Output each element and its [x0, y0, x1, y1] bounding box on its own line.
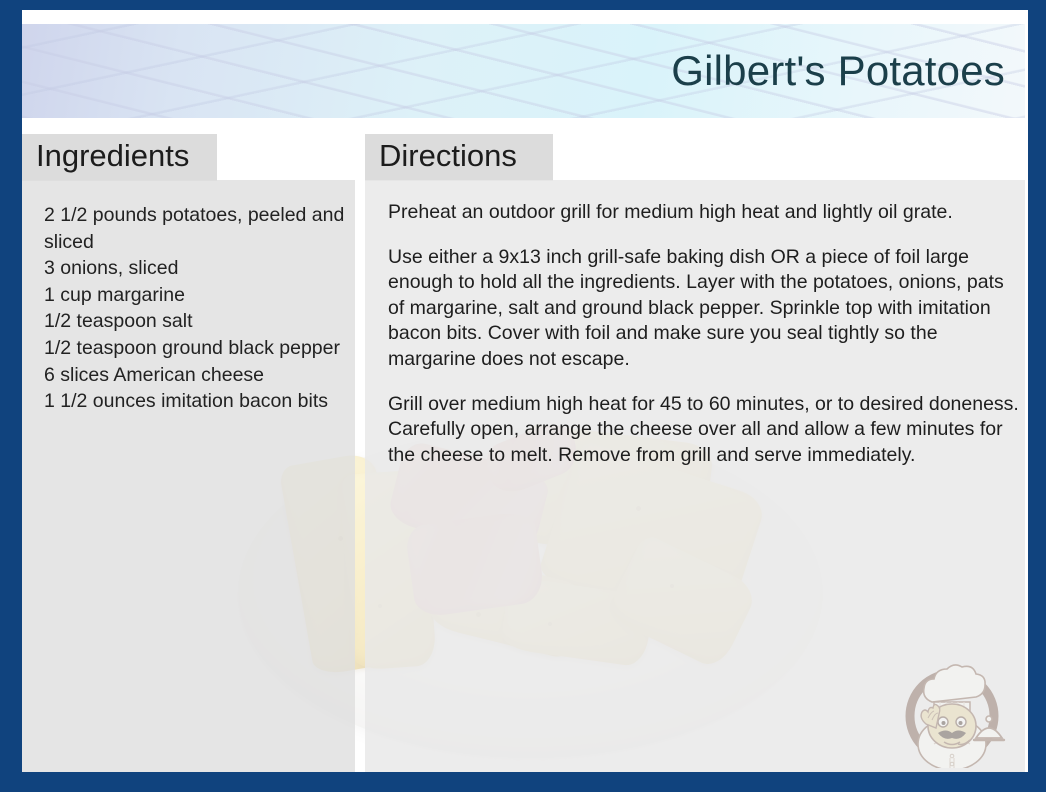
list-item: 1 cup margarine — [44, 282, 372, 309]
directions-heading-label: Directions — [379, 140, 539, 173]
ingredients-header: Ingredients — [22, 134, 217, 181]
direction-paragraph: Use either a 9x13 inch grill-safe baking… — [388, 245, 1024, 373]
direction-paragraph: Preheat an outdoor grill for medium high… — [388, 200, 1024, 226]
title-banner: Gilbert's Potatoes — [22, 24, 1025, 118]
recipe-slide: Gilbert's Potatoes Ingredients 2 1/2 pou… — [0, 0, 1046, 792]
chef-logo — [888, 640, 1016, 768]
list-item: 1/2 teaspoon salt — [44, 308, 372, 335]
ingredients-heading-label: Ingredients — [36, 140, 203, 173]
list-item: 1 1/2 ounces imitation bacon bits — [44, 388, 372, 415]
page-title: Gilbert's Potatoes — [671, 47, 1005, 95]
slide-page: Gilbert's Potatoes Ingredients 2 1/2 pou… — [22, 10, 1028, 772]
list-item: 1/2 teaspoon ground black pepper — [44, 335, 372, 362]
list-item: 2 1/2 pounds potatoes, peeled and sliced — [44, 202, 372, 255]
directions-header: Directions — [365, 134, 553, 181]
ingredients-list: 2 1/2 pounds potatoes, peeled and sliced… — [44, 202, 372, 415]
list-item: 6 slices American cheese — [44, 362, 372, 389]
directions-body: Preheat an outdoor grill for medium high… — [388, 200, 1024, 468]
list-item: 3 onions, sliced — [44, 255, 372, 282]
direction-paragraph: Grill over medium high heat for 45 to 60… — [388, 392, 1024, 469]
